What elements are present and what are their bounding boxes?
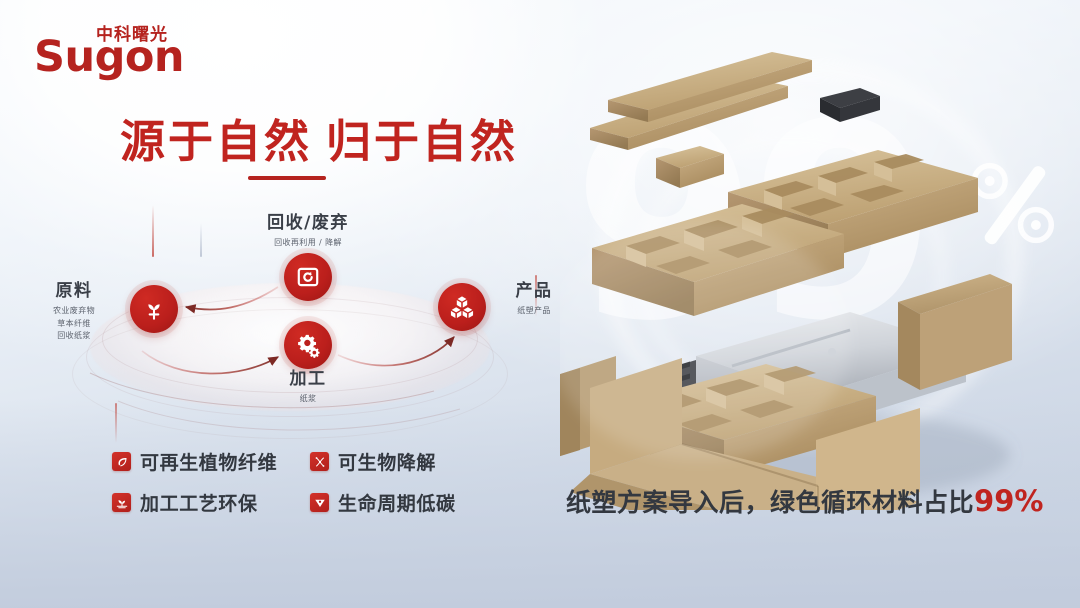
- feature-list: 可再生植物纤维 可生物降解 加工工艺环保 生命周期低碳: [112, 448, 512, 516]
- cycle-label-product-sub: 纸塑产品: [486, 305, 582, 317]
- feature-label: 加工工艺环保: [140, 489, 258, 516]
- cycle-label-product: 产品 纸塑产品: [486, 281, 582, 318]
- exploded-packaging-illustration: [560, 40, 1080, 510]
- cycle-label-product-title: 产品: [486, 281, 582, 302]
- feature-label: 可再生植物纤维: [140, 448, 277, 475]
- result-caption: 纸塑方案导入后，绿色循环材料占比99%: [566, 483, 1043, 519]
- feature-item-biodegradable: 可生物降解: [310, 448, 496, 475]
- cycle-label-process: 加工 纸浆: [226, 369, 390, 406]
- cycle-label-material: 原料 农业废弃物 草本纤维 回收纸浆: [26, 281, 122, 342]
- accent-line-top-left-2: [200, 223, 202, 257]
- cycle-label-process-title: 加工: [226, 369, 390, 390]
- material-sub-line-1: 农业废弃物: [26, 305, 122, 317]
- molecule-icon: [310, 452, 329, 471]
- boxes-icon: [449, 294, 475, 320]
- recycle-icon: [295, 264, 321, 290]
- brand-logo-latin: Sugon: [34, 36, 184, 79]
- feature-item-eco-process: 加工工艺环保: [112, 489, 298, 516]
- feature-label: 可生物降解: [338, 448, 436, 475]
- material-sub-line-3: 回收纸浆: [26, 330, 122, 342]
- headline-part-1: 源于自然: [120, 115, 312, 168]
- eco-process-icon: [112, 493, 131, 512]
- lifecycle-icon: [310, 493, 329, 512]
- result-caption-percent: 99%: [974, 484, 1043, 518]
- material-sub-line-2: 草本纤维: [26, 318, 122, 330]
- cycle-label-material-sub: 农业废弃物 草本纤维 回收纸浆: [26, 305, 122, 342]
- cycle-node-product[interactable]: [438, 283, 486, 331]
- gears-icon: [295, 332, 321, 358]
- cycle-label-material-title: 原料: [26, 281, 122, 302]
- accent-line-top-left: [152, 205, 154, 257]
- feature-label: 生命周期低碳: [338, 489, 456, 516]
- sprout-icon: [141, 296, 167, 322]
- slide-canvas: 中科曙光 Sugon 源于自然归于自然: [0, 0, 1080, 608]
- headline-part-2: 归于自然: [326, 115, 518, 168]
- product-artwork: 99: [560, 40, 1080, 510]
- feature-item-low-carbon: 生命周期低碳: [310, 489, 496, 516]
- result-caption-text: 纸塑方案导入后，绿色循环材料占比: [566, 488, 974, 517]
- cycle-label-process-sub: 纸浆: [226, 393, 390, 405]
- accent-line-bottom-left: [115, 403, 117, 443]
- brand-logo: 中科曙光 Sugon: [34, 20, 214, 82]
- feature-item-renewable-fiber: 可再生植物纤维: [112, 448, 298, 475]
- page-title: 源于自然归于自然: [120, 115, 518, 180]
- cycle-node-process[interactable]: [284, 321, 332, 369]
- cycle-node-material[interactable]: [130, 285, 178, 333]
- lifecycle-diagram: 原料 农业废弃物 草本纤维 回收纸浆 回收/废弃 回收再利用 / 降解 产品 纸…: [30, 205, 570, 435]
- cycle-label-recycle: 回收/废弃 回收再利用 / 降解: [230, 213, 386, 250]
- cycle-label-recycle-title: 回收/废弃: [230, 213, 386, 234]
- cycle-label-recycle-sub: 回收再利用 / 降解: [230, 237, 386, 249]
- leaf-icon: [112, 452, 131, 471]
- title-underline: [248, 176, 326, 180]
- headline: 源于自然归于自然: [120, 115, 518, 168]
- cycle-node-recycle[interactable]: [284, 253, 332, 301]
